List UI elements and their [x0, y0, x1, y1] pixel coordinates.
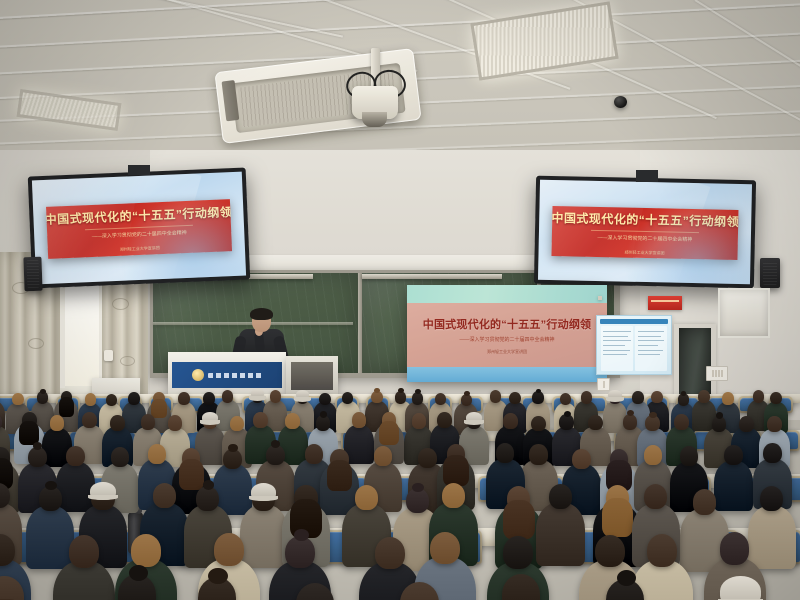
audience-head [342, 392, 353, 404]
audience-head [588, 415, 603, 431]
wall-switch-bank[interactable] [706, 366, 728, 381]
audience-head [722, 392, 733, 404]
light-switch-plate[interactable] [597, 378, 610, 391]
information-poster [596, 315, 672, 375]
audience-member [700, 581, 781, 600]
right-wall-window [718, 288, 770, 338]
audience-hair-bun [374, 388, 380, 393]
audience-head [760, 486, 783, 511]
ceiling-dome-sensor-icon [614, 96, 627, 108]
audience-hair-bun [464, 391, 470, 396]
audience-head [375, 537, 405, 569]
framed-certificates [598, 296, 602, 300]
audience-head [406, 488, 429, 513]
display-right-organization: 郑州轻工业大学宣讲团 [625, 249, 665, 256]
audience-head [651, 391, 662, 403]
audience-hair-bun [203, 480, 215, 490]
audience-hair-bun [564, 411, 571, 417]
wall-speaker-right [760, 258, 780, 288]
audience-head [110, 415, 125, 431]
audience-member [585, 579, 666, 600]
audience-head [296, 583, 335, 600]
display-right-title: 中国式现代化的“十五五”行动纲领 [551, 209, 738, 230]
display-right-mount [636, 170, 658, 182]
audience-head [141, 414, 156, 430]
audience-hair-bun [681, 391, 687, 396]
audience-head [270, 390, 281, 402]
audience-head [412, 413, 427, 429]
audience-head [532, 391, 543, 403]
audience-head [549, 484, 572, 509]
projection-screen: 中国式现代化的“十五五”行动纲领 ——深入学习贯彻党的二十届四中全会精神 郑州轻… [407, 285, 607, 382]
audience-long-hair [443, 455, 468, 486]
audience-head [285, 413, 300, 429]
university-emblem-icon [192, 369, 204, 381]
audience-head [647, 534, 677, 566]
audience-head [531, 416, 546, 432]
audience-head [430, 532, 460, 564]
audience-hair-bun [228, 444, 237, 452]
audience-head [496, 443, 514, 463]
audience-head [490, 390, 501, 402]
audience-cap-brim [200, 420, 221, 425]
audience-head [168, 415, 183, 431]
audience-head [230, 416, 245, 432]
audience-head [435, 393, 446, 405]
audience-head [572, 449, 590, 469]
display-left-subtitle: ——深入学习贯彻党的二十届四中全会精神 [92, 229, 187, 240]
lectern-banner [172, 362, 282, 388]
audience-member [97, 574, 178, 600]
audience-cap-brim [464, 420, 485, 425]
audience-head [502, 574, 541, 600]
slide-organization: 郑州轻工业大学宣讲团 [487, 349, 527, 355]
audience-head [503, 413, 518, 429]
audience-head [509, 392, 520, 404]
audience-long-hair [379, 421, 399, 446]
audience-hair-bun [45, 481, 57, 491]
audience-head [85, 393, 96, 405]
audience-head [400, 582, 439, 600]
audience-head [644, 484, 667, 509]
audience-head [503, 536, 533, 568]
display-right[interactable]: 中国式现代化的“十五五”行动纲领 ——深入学习贯彻党的二十届四中全会精神 郑州轻… [534, 176, 756, 289]
lecture-hall-photo: 中国式现代化的“十五五”行动纲领 ——深入学习贯彻党的二十届四中全会精神 郑州轻… [0, 0, 800, 600]
audience-hair-bun [649, 412, 656, 418]
audience-head [39, 486, 62, 511]
audience-head [623, 414, 638, 430]
lectern-banner-text [208, 373, 262, 378]
audience-head [203, 392, 214, 404]
audience-hair-bun [320, 411, 327, 417]
audience-head [437, 412, 452, 428]
audience-head [739, 416, 754, 432]
audience-head [355, 485, 378, 510]
audience-head [0, 576, 24, 600]
audience-head [148, 444, 166, 464]
audience-hair-bun [716, 412, 723, 418]
lectern-side-cabinet [286, 356, 338, 396]
audience-head [560, 393, 571, 405]
audience-head [111, 447, 129, 467]
display-left-mount [128, 165, 150, 175]
slide-subtitle: ——深入学习贯彻党的二十届四中全会精神 [459, 336, 554, 343]
audience-cap-brim [606, 397, 623, 402]
audience-long-hair [602, 498, 633, 537]
cup-on-sill [104, 350, 113, 361]
audience-head [767, 416, 782, 432]
audience-head [319, 393, 330, 405]
audience-head [581, 391, 592, 403]
audience-head [222, 390, 233, 402]
audience-member [177, 577, 258, 600]
audience-head [595, 535, 625, 567]
audience-head [724, 445, 742, 465]
audience-head [680, 446, 698, 466]
audience-head [632, 391, 643, 403]
audience-member [0, 576, 45, 600]
slide-title: 中国式现代化的“十五五”行动纲领 [423, 316, 592, 332]
display-left[interactable]: 中国式现代化的“十五五”行动纲领 ——深入学习贯彻党的二十届四中全会精神 郑州轻… [28, 167, 250, 288]
red-wall-sign [648, 296, 682, 310]
audience-hair-bun [40, 389, 46, 394]
audience-head [214, 533, 244, 565]
audience-head [770, 392, 781, 404]
audience-head [66, 446, 84, 466]
audience-head [720, 532, 750, 564]
display-left-title: 中国式现代化的“十五五”行动纲领 [46, 203, 233, 228]
audience-head [131, 534, 161, 566]
wall-speaker-left [23, 257, 42, 292]
audience-head [352, 412, 367, 428]
audience-member [481, 574, 562, 600]
display-right-subtitle: ——深入学习贯彻党的二十届四中全会精神 [597, 234, 692, 243]
audience-head [644, 445, 662, 465]
audience-hair-bun [129, 565, 148, 581]
audience-head [50, 415, 65, 431]
audience-head [106, 394, 117, 406]
audience-head [82, 412, 97, 428]
audience-head [674, 414, 689, 430]
audience-hair-bun [415, 389, 421, 394]
slide-bottom-band [407, 367, 607, 382]
audience-cap-brim [294, 397, 311, 402]
audience-cap [720, 576, 761, 600]
slide-top-band [407, 285, 607, 303]
audience-hair-bun [294, 529, 309, 541]
audience-head [418, 448, 436, 468]
audience-head [253, 412, 268, 428]
audience-head [442, 483, 465, 508]
slide-body: 中国式现代化的“十五五”行动纲领 ——深入学习贯彻党的二十届四中全会精神 郑州轻… [407, 303, 607, 367]
display-left-organization: 郑州轻工业大学宣讲团 [120, 245, 160, 253]
audience-head [763, 443, 781, 463]
projector-lens-icon [362, 112, 387, 127]
audience-head [128, 392, 139, 404]
audience-long-hair [503, 500, 534, 539]
audience-long-hair [59, 397, 75, 416]
audience-head [153, 483, 176, 508]
audience-head [753, 390, 764, 402]
audience-head [698, 390, 709, 402]
audience-member [275, 583, 356, 600]
audience-head [529, 444, 547, 464]
audience-head [374, 446, 392, 466]
audience-head [178, 392, 189, 404]
chalk-rail [362, 274, 502, 279]
audience-long-hair [19, 421, 39, 446]
audience-hair-bun [208, 568, 227, 584]
audience-member [379, 582, 460, 600]
audience-head [12, 393, 23, 405]
audience-head [693, 489, 716, 514]
audience-head [69, 535, 99, 567]
audience-hair-bun [412, 483, 424, 493]
